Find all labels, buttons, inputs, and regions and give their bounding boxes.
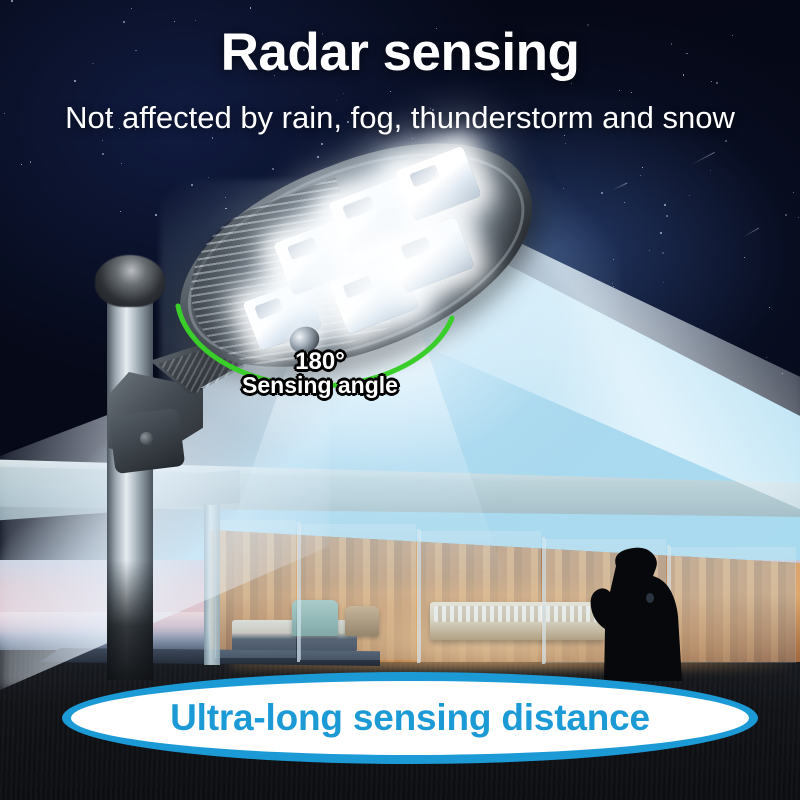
star <box>725 140 727 142</box>
star <box>120 211 121 212</box>
star <box>11 0 13 2</box>
star <box>565 143 566 144</box>
star <box>212 137 214 139</box>
sensing-angle-value: 180° <box>170 350 470 374</box>
star <box>102 140 103 141</box>
star <box>660 232 662 234</box>
bottom-banner-text: Ultra-long sensing distance <box>170 697 650 739</box>
star <box>272 168 274 170</box>
star <box>343 93 344 94</box>
star <box>640 175 641 176</box>
page-title: Radar sensing <box>0 22 800 83</box>
star <box>131 8 132 9</box>
star-streak <box>743 228 759 238</box>
star <box>662 252 664 254</box>
star <box>250 7 251 8</box>
star-streak <box>691 152 714 165</box>
star <box>195 20 196 21</box>
sensing-angle-label: 180° Sensing angle <box>170 350 470 398</box>
pole-cap <box>95 255 165 307</box>
star <box>793 192 794 193</box>
star <box>766 357 767 358</box>
pole-lower-shadow <box>107 560 153 680</box>
star <box>785 214 787 216</box>
bracket-bolt <box>140 432 153 445</box>
star <box>631 92 632 93</box>
star <box>798 217 799 218</box>
star <box>624 202 625 203</box>
window-mullion <box>542 537 545 664</box>
star <box>744 257 745 258</box>
star <box>390 91 391 92</box>
star <box>102 153 104 155</box>
star <box>155 214 157 216</box>
person-silhouette <box>572 536 702 681</box>
page-subtitle: Not affected by rain, fog, thunderstorm … <box>0 100 800 136</box>
star <box>649 250 650 251</box>
star <box>710 170 711 171</box>
star <box>769 307 770 308</box>
star <box>642 167 643 168</box>
star <box>689 195 690 196</box>
product-marketing-image: 180° Sensing angle Radar sensing Not aff… <box>0 0 800 800</box>
star <box>666 215 668 217</box>
sensing-angle-caption: Sensing angle <box>170 374 470 397</box>
star <box>664 204 666 206</box>
star <box>21 164 22 165</box>
star <box>121 163 123 165</box>
star <box>208 177 209 178</box>
star <box>321 143 323 145</box>
star <box>317 156 319 158</box>
star <box>30 161 32 163</box>
bottom-banner: Ultra-long sensing distance <box>62 672 758 764</box>
star <box>663 282 664 283</box>
star <box>619 90 620 91</box>
